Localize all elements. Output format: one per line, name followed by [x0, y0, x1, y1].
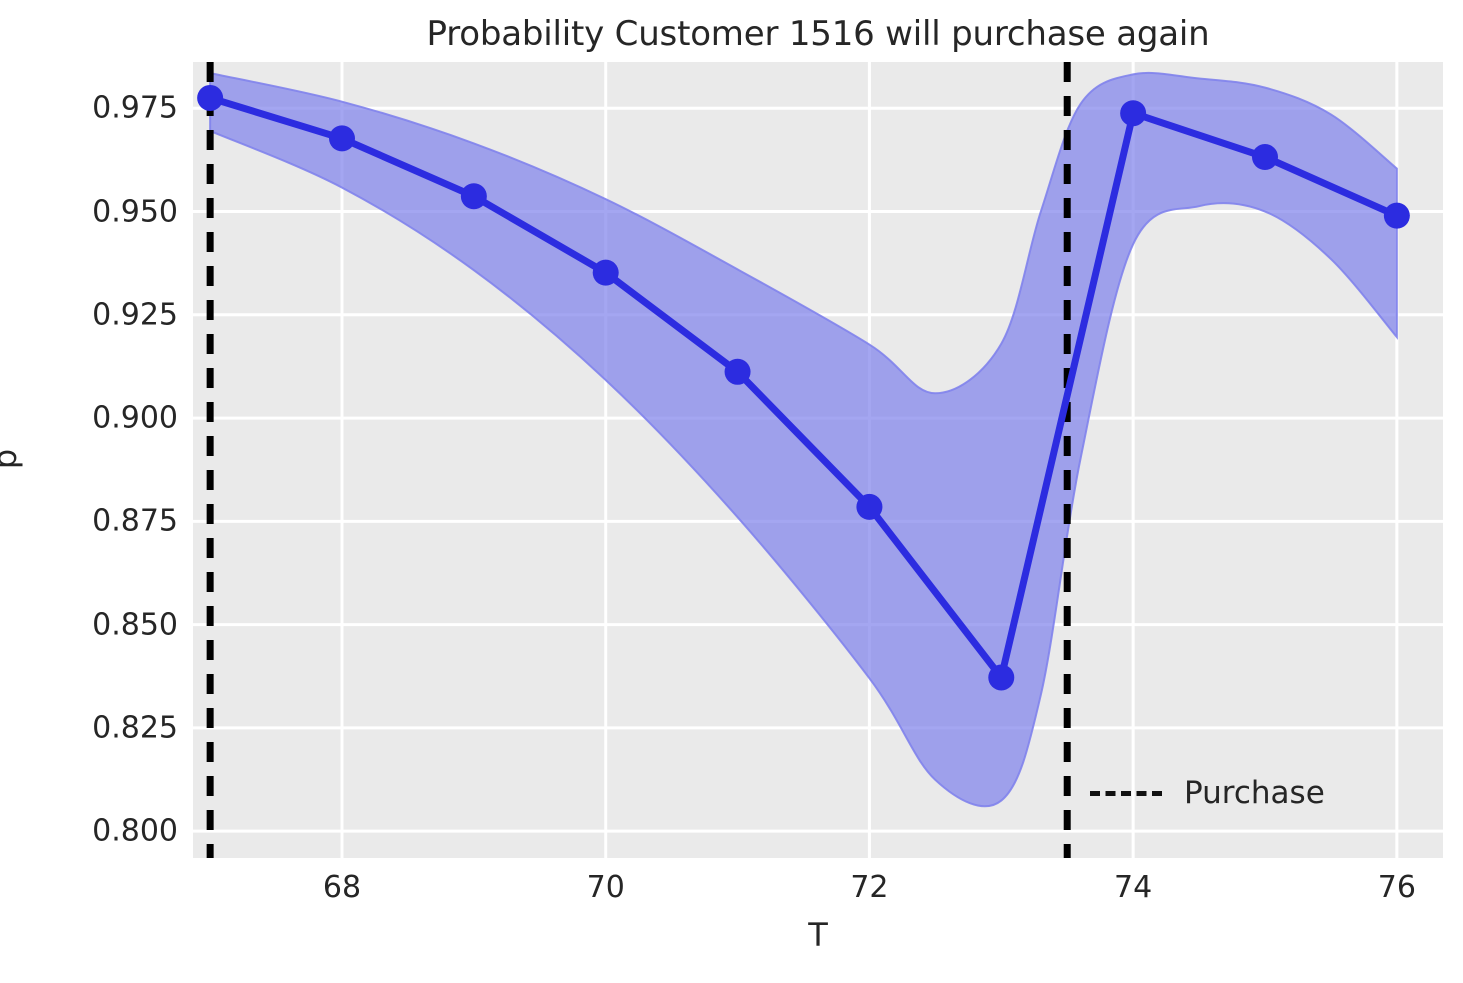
plot-svg [193, 62, 1443, 858]
x-axis-label: T [193, 916, 1443, 954]
y-tick-label: 0.900 [28, 401, 178, 436]
x-tick-label: 70 [546, 870, 666, 905]
x-tick-label: 72 [809, 870, 929, 905]
chart-title: Probability Customer 1516 will purchase … [193, 14, 1443, 54]
y-axis-tick-labels: 0.8000.8250.8500.8750.9000.9250.9500.975 [18, 62, 178, 858]
chart-legend: Purchase [1090, 775, 1325, 811]
y-tick-label: 0.975 [28, 91, 178, 126]
legend-label-purchase: Purchase [1184, 775, 1325, 811]
y-tick-label: 0.825 [28, 710, 178, 745]
x-tick-label: 74 [1073, 870, 1193, 905]
plot-area [193, 62, 1443, 858]
y-tick-label: 0.800 [28, 814, 178, 849]
y-tick-label: 0.950 [28, 194, 178, 229]
x-tick-label: 68 [282, 870, 402, 905]
legend-dashed-line-icon [1090, 791, 1162, 796]
chart-figure: Probability Customer 1516 will purchase … [0, 0, 1463, 983]
x-axis-tick-labels: 6870727476 [193, 862, 1443, 912]
x-tick-label: 76 [1337, 870, 1457, 905]
y-tick-label: 0.875 [28, 504, 178, 539]
y-tick-label: 0.850 [28, 607, 178, 642]
y-tick-label: 0.925 [28, 297, 178, 332]
